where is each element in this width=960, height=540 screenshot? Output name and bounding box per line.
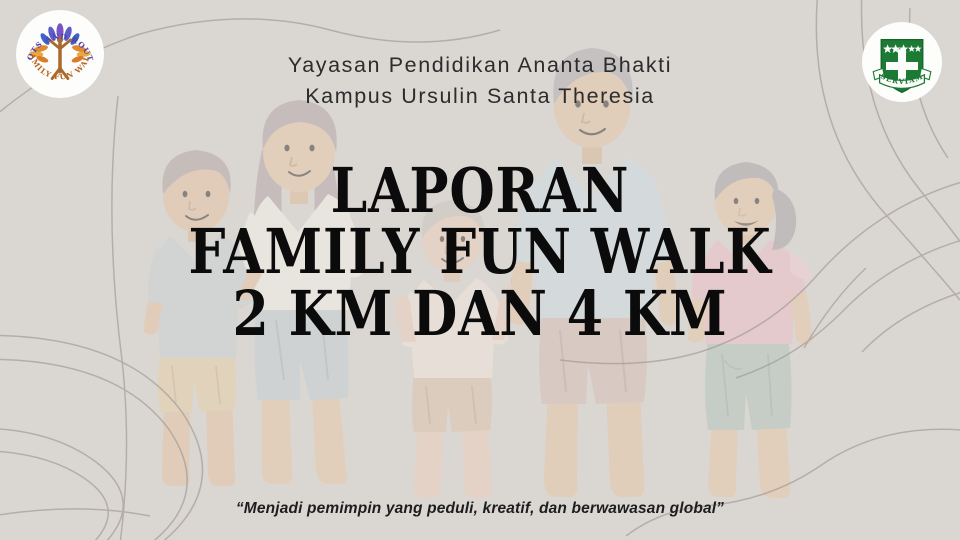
school-motto-tagline: “Menjadi pemimpin yang peduli, kreatif, … xyxy=(0,500,960,518)
institution-header: Yayasan Pendidikan Ananta Bhakti Kampus … xyxy=(0,50,960,111)
title-line-1: LAPORAN xyxy=(77,160,883,221)
header-line-1: Yayasan Pendidikan Ananta Bhakti xyxy=(0,50,960,81)
title-line-3: 2 KM DAN 4 KM xyxy=(77,283,883,344)
presentation-slide: ROOTS AND ROUTES FAMILY FUN WALK xyxy=(0,0,960,540)
title-line-2: FAMILY FUN WALK xyxy=(77,221,883,282)
header-line-2: Kampus Ursulin Santa Theresia xyxy=(0,81,960,112)
page-title: LAPORAN FAMILY FUN WALK 2 KM DAN 4 KM xyxy=(0,160,960,344)
